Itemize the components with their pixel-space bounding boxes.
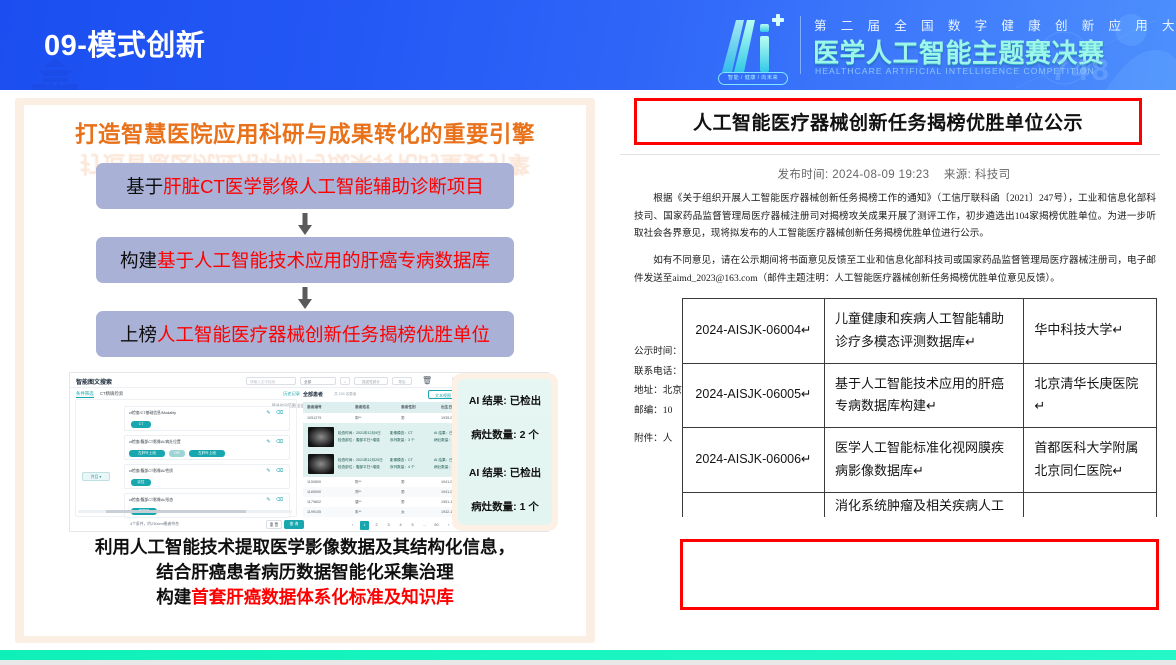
cell-project-code: 2024-AISJK-06006↵ — [683, 428, 825, 493]
flow-step-2-highlight: 基于人工智能技术应用的肝癌专病数据库 — [157, 247, 490, 273]
series-count: 序列数量：3 个 — [390, 437, 430, 444]
summary-line-3: 构建首套肝癌数据体系化标准及知识库 — [24, 585, 586, 610]
logic-operator-select[interactable]: 并且 ▾ — [82, 472, 110, 481]
cell-patient-name: 朱** — [351, 510, 397, 515]
reset-button[interactable]: 重 置 — [266, 520, 282, 529]
cell-project-code — [683, 492, 825, 517]
export-button[interactable]: 导出 — [392, 377, 412, 385]
publish-time-value: 2024-08-09 19:23 — [832, 169, 929, 181]
filter-card-actions-icon[interactable]: ✎ ⌫ — [266, 439, 285, 445]
left-panel-title: 打造智慧医院应用科研与成果转化的重要引擎 — [24, 117, 586, 149]
filter-panel: 并且 ▾ ct检查/CT基础信息/Modality ✎ ⌫ CT ct检查/腹部… — [75, 399, 297, 517]
flow-step-2-prefix: 构建 — [120, 247, 157, 273]
publish-time-label: 发布时间: — [777, 169, 828, 181]
filter-chip[interactable]: 左肝叶上段 — [189, 450, 225, 457]
scope-select[interactable]: 全部 — [300, 377, 336, 385]
filter-card-actions-icon[interactable]: ✎ ⌫ — [266, 497, 285, 503]
callout-lesion-count-1: 病灶数量: 2 个 — [458, 427, 552, 442]
col-patient-sex: 患者性别 — [397, 405, 437, 410]
logo-divider — [800, 16, 801, 74]
horizontal-scrollbar[interactable] — [78, 510, 292, 513]
summary-line-1: 利用人工智能技术提取医学影像数据及其结构化信息， — [24, 535, 586, 560]
slide-page: 09-模式创新 — [0, 0, 1176, 665]
flow-step-1-highlight: 肝脏CT医学影像人工智能辅助诊断项目 — [163, 173, 484, 199]
search-icon[interactable]: ⌕ — [340, 377, 350, 385]
cell-organization: 首都医科大学附属北京同仁医院↵ — [1024, 428, 1157, 493]
exam-modality: 影像模态：CT — [390, 430, 430, 437]
page-5[interactable]: 5 — [408, 521, 417, 530]
callout-ai-result-1: AI 结果: 已检出 — [458, 393, 552, 408]
page-ellipsis: … — [420, 521, 429, 530]
document-paragraph-2: 如有不同意见，请在公示期间将书面意见反馈至工业和信息化部科技司或国家药品监督管理… — [634, 252, 1156, 287]
competition-line-1: 第 二 届 全 国 数 字 健 康 创 新 应 用 大 赛 — [814, 15, 1176, 34]
trash-icon[interactable]: 🗑 — [422, 376, 432, 385]
cell-organization — [1024, 492, 1157, 517]
cell-project-name: 医学人工智能标准化视网膜疾病影像数据库↵ — [824, 428, 1023, 493]
cell-patient-sex: 男 — [397, 490, 437, 495]
filter-chip[interactable]: CT — [131, 421, 151, 428]
history-link[interactable]: 历史记录 — [283, 391, 300, 397]
flow-step-2: 构建基于人工智能技术应用的肝癌专病数据库 — [96, 237, 514, 283]
cell-project-name: 儿童健康和疾病人工智能辅助诊疗多模态评测数据库↵ — [824, 299, 1023, 364]
table-row: 2024-AISJK-06004↵ 儿童健康和疾病人工智能辅助诊疗多模态评测数据… — [683, 299, 1157, 364]
document-title-box: 人工智能医疗器械创新任务揭榜优胜单位公示 — [634, 98, 1142, 145]
filter-card-actions-icon[interactable]: ✎ ⌫ — [266, 410, 285, 416]
page-2[interactable]: 2 — [372, 521, 381, 530]
filter-card[interactable]: ct检查/腹部CT影像AI/性质 ✎ ⌫ 实性 — [124, 464, 290, 489]
document-body: 根据《关于组织开展人工智能医疗器械创新任务揭榜工作的通知》（工信厅联科函〔202… — [634, 190, 1156, 297]
filter-chip-or[interactable]: OR — [169, 450, 185, 457]
logo-tagline: 智能 / 健康 / 向未来 — [718, 72, 788, 85]
summary-line-3-highlight: 首套肝癌数据体系化标准及知识库 — [191, 587, 454, 607]
page-4[interactable]: 4 — [396, 521, 405, 530]
arrow-down-icon — [298, 287, 312, 309]
col-patient-id: 患者编号 — [303, 405, 351, 410]
ai-result-callout-body: AI 结果: 已检出 病灶数量: 2 个 AI 结果: 已检出 病灶数量: 1 … — [458, 379, 552, 525]
tab-condition-filter[interactable]: 条件筛选 — [76, 391, 94, 398]
document-paragraph-1: 根据《关于组织开展人工智能医疗器械创新任务揭榜工作的通知》（工信厅联科函〔202… — [634, 190, 1156, 243]
footer-line — [0, 660, 1176, 665]
filter-card-label: ct检查/腹部CT影像AI/性质 — [129, 469, 173, 474]
stats-button[interactable]: 描述性统计 — [354, 377, 388, 385]
slide-header: 09-模式创新 — [0, 0, 1176, 90]
cell-patient-id: 1165590 — [303, 490, 351, 494]
document-title: 人工智能医疗器械创新任务揭榜优胜单位公示 — [637, 101, 1139, 142]
ai-result-callout: AI 结果: 已检出 病灶数量: 2 个 AI 结果: 已检出 病灶数量: 1 … — [452, 373, 558, 531]
source-value: 科技司 — [975, 169, 1011, 181]
filter-card[interactable]: ct检查/腹部CT影像AI/病灶位置 ✎ ⌫ 左肝叶上段 OR 左肝叶上段 — [124, 435, 290, 460]
flow-step-1-prefix: 基于 — [126, 173, 163, 199]
app-title: 智能图文搜索 — [76, 377, 112, 386]
cell-patient-id: 1179802 — [303, 500, 351, 504]
filter-card-label: ct检查/腹部CT影像AI/病灶位置 — [129, 440, 181, 445]
left-panel-summary: 利用人工智能技术提取医学影像数据及其结构化信息， 结合肝癌患者病历数据智能化采集… — [24, 535, 586, 610]
prev-page-icon[interactable]: ‹ — [348, 521, 357, 530]
cell-organization: 北京清华长庚医院↵ — [1024, 363, 1157, 428]
exam-site: 检查部位：腹部平扫+增强 — [338, 464, 386, 471]
exam-time: 检查时间：2021年12月20日 — [338, 457, 386, 464]
ct-thumbnail[interactable] — [308, 427, 334, 447]
page-50[interactable]: 50 — [432, 521, 441, 530]
table-row-partial: 消化系统肿瘤及相关疾病人工 — [683, 492, 1157, 517]
results-count: 共 249 名患者 — [334, 392, 356, 397]
document-meta: 发布时间: 2024-08-09 19:23 来源: 科技司 — [612, 166, 1176, 182]
cell-patient-id: 1051279 — [303, 416, 351, 420]
filter-card-label: ct检查/CT基础信息/Modality — [129, 411, 176, 416]
exam-time: 检查时间：2021年12月9日 — [338, 430, 386, 437]
ct-thumbnail[interactable] — [308, 454, 334, 474]
cell-patient-id: 1150800 — [303, 480, 351, 484]
source-label: 来源: — [944, 169, 971, 181]
cell-patient-name: 郭** — [351, 416, 397, 421]
footer-accent-bar — [0, 650, 1176, 660]
arrow-down-icon — [298, 213, 312, 235]
filter-card-actions-icon[interactable]: ✎ ⌫ — [266, 468, 285, 474]
page-3[interactable]: 3 — [384, 521, 393, 530]
highlighted-row-box — [680, 539, 1159, 610]
flow-step-1: 基于肝脏CT医学影像人工智能辅助诊断项目 — [96, 163, 514, 209]
summary-line-3-prefix: 构建 — [156, 587, 191, 607]
summary-line-2: 结合肝癌患者病历数据智能化采集治理 — [24, 560, 586, 585]
flow-step-3: 上榜人工智能医疗器械创新任务揭榜优胜单位 — [96, 311, 514, 357]
ai-logo-icon — [714, 14, 790, 76]
filter-summary: 4个条件，约230omf患者符合 — [130, 522, 179, 527]
cell-patient-name: 郑** — [351, 490, 397, 495]
tab-ct-search[interactable]: CT精确检索 — [100, 391, 123, 396]
filter-chip[interactable]: 实性 — [131, 479, 151, 486]
winners-table: 2024-AISJK-06004↵ 儿童健康和疾病人工智能辅助诊疗多模态评测数据… — [682, 298, 1157, 517]
table-row: 2024-AISJK-06006↵ 医学人工智能标准化视网膜疾病影像数据库↵ 首… — [683, 428, 1157, 493]
results-title: 全部患者 — [303, 391, 323, 398]
right-document-panel: 人工智能医疗器械创新任务揭榜优胜单位公示 发布时间: 2024-08-09 19… — [612, 90, 1176, 635]
cell-patient-sex: 女 — [397, 510, 437, 515]
cell-organization: 华中科技大学↵ — [1024, 299, 1157, 364]
cell-patient-name: 陈** — [351, 480, 397, 485]
cell-patient-sex: 男 — [397, 416, 437, 421]
bottom-mask — [612, 613, 1176, 635]
filter-card[interactable]: ct检查/CT基础信息/Modality ✎ ⌫ CT — [124, 406, 290, 431]
exam-site: 检查部位：腹部平扫+增强 — [338, 437, 386, 444]
left-content-panel: 打造智慧医院应用科研与成果转化的重要引擎 打造智慧医院应用科研与成果转化的重要引… — [15, 98, 595, 643]
competition-banner: 智能 / 健康 / 向未来 第 二 届 全 国 数 字 健 康 创 新 应 用 … — [696, 0, 1176, 90]
table-row-highlighted: 2024-AISJK-06005↵ 基于人工智能技术应用的肝癌专病数据库构建↵ … — [683, 363, 1157, 428]
cell-project-code: 2024-AISJK-06005↵ — [683, 363, 825, 428]
callout-lesion-count-2: 病灶数量: 1 个 — [458, 499, 552, 514]
filter-card[interactable]: ct检查/腹部CT影像AI/形态 ✎ ⌫ 类圆型 — [124, 493, 290, 518]
cell-patient-name: 唐** — [351, 500, 397, 505]
cell-patient-sex: 男 — [397, 500, 437, 505]
cell-project-code: 2024-AISJK-06004↵ — [683, 299, 825, 364]
flow-step-3-prefix: 上榜 — [120, 321, 157, 347]
flow-step-3-highlight: 人工智能医疗器械创新任务揭榜优胜单位 — [157, 321, 490, 347]
left-white-card: 打造智慧医院应用科研与成果转化的重要引擎 打造智慧医院应用科研与成果转化的重要引… — [24, 105, 586, 636]
cell-project-name: 基于人工智能技术应用的肝癌专病数据库构建↵ — [824, 363, 1023, 428]
col-patient-name: 患者姓名 — [351, 405, 397, 410]
cell-patient-id: 1199155 — [303, 510, 351, 514]
search-input[interactable]: 请输入文字检索 — [246, 377, 296, 385]
cell-patient-sex: 男 — [397, 480, 437, 485]
callout-ai-result-2: AI 结果: 已检出 — [458, 465, 552, 480]
exam-modality: 影像模态：CT — [390, 457, 430, 464]
page-1[interactable]: 1 — [360, 521, 369, 530]
document-divider — [620, 154, 1160, 155]
pagoda-icon — [26, 58, 84, 90]
decoration-number: 748 — [1051, 52, 1112, 88]
filter-chip[interactable]: 左肝叶上段 — [129, 450, 165, 457]
filter-card-label: ct检查/腹部CT影像AI/形态 — [129, 498, 173, 503]
app-tabs: 条件筛选 CT精确检索 — [76, 391, 123, 397]
series-count: 序列数量：4 个 — [390, 464, 430, 471]
cell-project-name: 消化系统肿瘤及相关疾病人工 — [824, 492, 1023, 517]
